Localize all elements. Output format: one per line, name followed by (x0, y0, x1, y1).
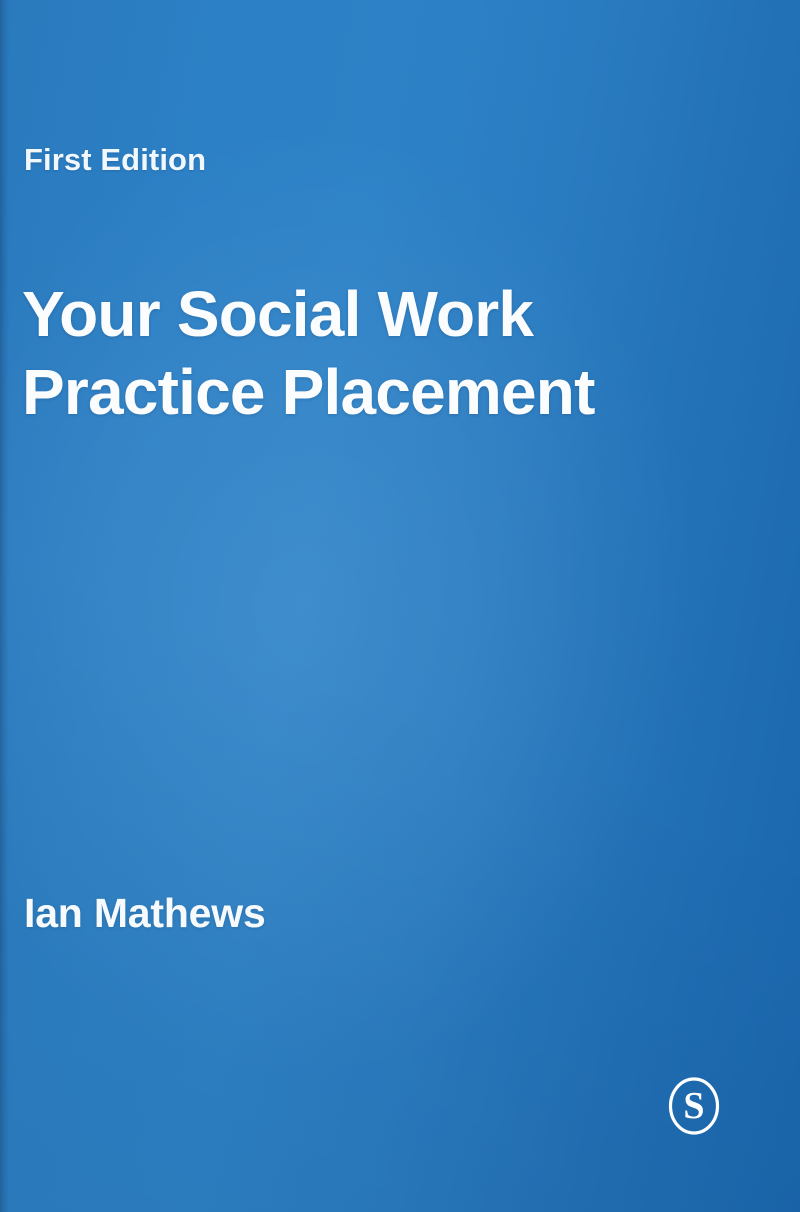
book-title-line-2: Practice Placement (22, 353, 722, 431)
book-title-line-1: Your Social Work (22, 275, 722, 353)
book-title: Your Social Work Practice Placement (22, 275, 722, 431)
author-name: Ian Mathews (24, 893, 266, 934)
edition-label: First Edition (24, 144, 206, 175)
cover-content: First Edition Your Social Work Practice … (0, 0, 800, 1212)
sage-logo-letter: S (683, 1085, 704, 1127)
sage-publisher-logo-icon: S (666, 1076, 722, 1136)
book-cover: First Edition Your Social Work Practice … (0, 0, 800, 1212)
